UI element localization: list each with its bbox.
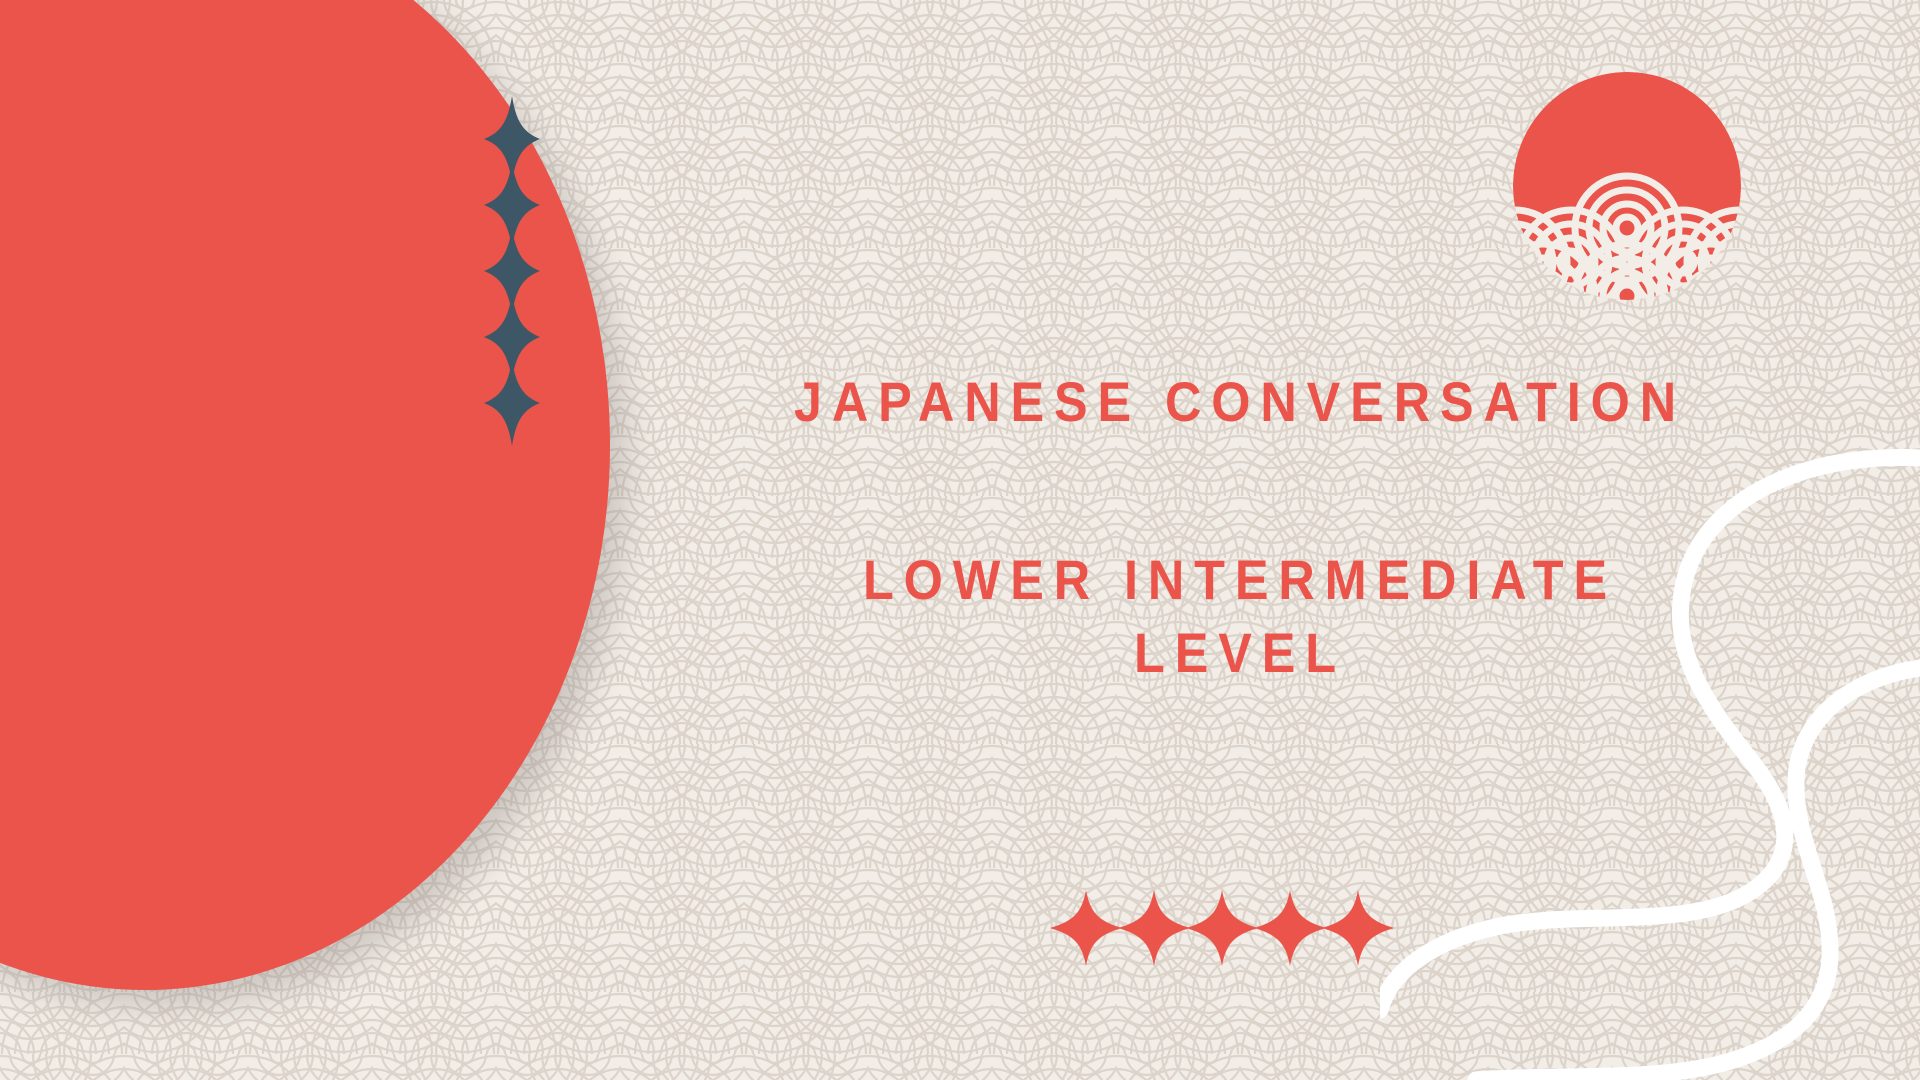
sparkle-icon [1254, 890, 1326, 966]
page-title: JAPANESE CONVERSATION [628, 372, 1852, 432]
sparkle-icon [1118, 890, 1190, 966]
poster-text-block: JAPANESE CONVERSATION LOWER INTERMEDIATE… [560, 372, 1920, 690]
poster-canvas: JAPANESE CONVERSATION LOWER INTERMEDIATE… [0, 0, 1920, 1080]
rising-sun-seigaiha-logo [1513, 72, 1741, 300]
page-subtitle: LOWER INTERMEDIATE LEVEL [799, 544, 1681, 690]
sparkle-icon [1322, 890, 1394, 966]
sparkle-icon [484, 360, 540, 446]
sparkle-icon [1050, 890, 1122, 966]
sparkle-column [484, 96, 544, 436]
sparkle-row [1050, 888, 1390, 968]
sparkle-icon [1186, 890, 1258, 966]
